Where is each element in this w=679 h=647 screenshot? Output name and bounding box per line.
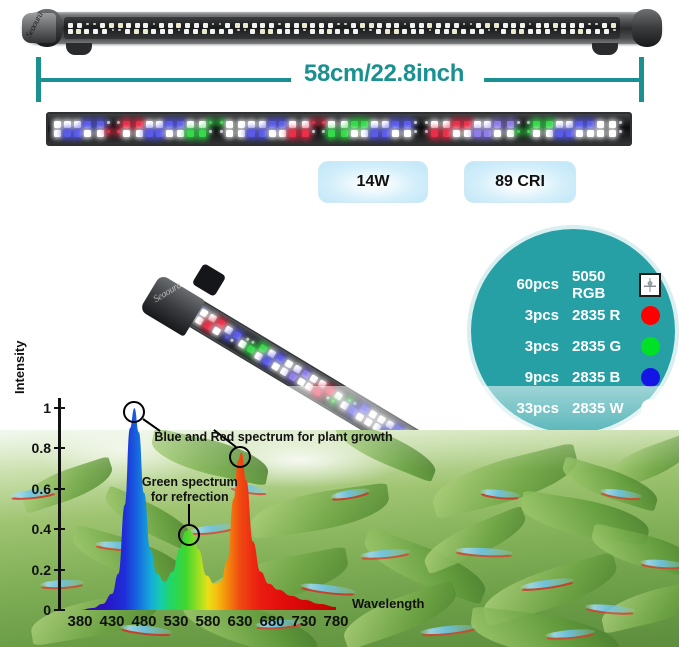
led-chip — [503, 23, 508, 28]
led-chip-group — [443, 23, 466, 34]
led-chip — [285, 29, 290, 34]
led-chip — [93, 23, 96, 26]
lit-led — [507, 130, 514, 137]
lit-led — [302, 130, 309, 137]
led-chip — [118, 29, 121, 32]
lit-led — [279, 130, 286, 137]
led-chip — [404, 23, 407, 26]
lit-led — [507, 121, 514, 128]
lit-led — [289, 121, 296, 128]
led-chip — [470, 29, 475, 34]
lit-led — [136, 130, 143, 137]
lit-led — [269, 130, 276, 137]
lit-led — [587, 121, 594, 128]
lit-led — [136, 121, 143, 128]
lit-led — [609, 121, 616, 128]
led-chip — [219, 29, 224, 34]
chart-y-tick — [54, 569, 65, 571]
lit-led — [533, 130, 540, 137]
lit-led — [576, 121, 583, 128]
led-chip — [385, 29, 390, 34]
led-chip — [225, 23, 230, 28]
lit-led — [404, 121, 411, 128]
lit-led-group — [544, 121, 565, 137]
lit-led — [146, 121, 153, 128]
lit-led-group — [52, 121, 73, 137]
lit-led-group — [278, 121, 299, 137]
angled-led — [238, 340, 248, 350]
angled-led — [292, 364, 302, 374]
led-chip-group — [268, 23, 291, 34]
led-chip — [310, 23, 315, 28]
led-chip — [210, 29, 215, 34]
lit-led — [238, 121, 245, 128]
lit-led — [443, 121, 450, 128]
spec-led-type: 2835 B — [559, 369, 639, 386]
led-chip — [260, 23, 265, 28]
lit-led — [453, 121, 460, 128]
led-chip — [260, 29, 265, 34]
lit-led — [576, 130, 583, 137]
lit-led — [371, 130, 378, 137]
lit-led-group — [134, 121, 155, 137]
lit-led — [341, 121, 348, 128]
lit-led-group — [93, 121, 114, 137]
spec-led-type: 2835 R — [559, 307, 639, 324]
badge-power: 14W — [318, 161, 428, 203]
angled-led — [288, 372, 298, 382]
lit-led — [414, 121, 417, 124]
led-chip — [501, 29, 506, 34]
angled-led — [254, 351, 264, 361]
led-chip — [402, 29, 407, 34]
led-chip — [335, 29, 340, 34]
product-led-bar-lit — [46, 112, 632, 146]
led-chip — [554, 29, 557, 32]
led-chip-group — [218, 23, 241, 34]
led-chip — [586, 29, 591, 34]
led-chip — [118, 23, 123, 28]
lit-led-group — [114, 121, 135, 137]
lit-led — [226, 130, 233, 137]
color-dot-g — [641, 337, 660, 356]
lit-led — [351, 121, 358, 128]
lit-led-group — [503, 121, 524, 137]
lit-led — [382, 130, 389, 137]
lit-led — [123, 121, 130, 128]
lit-led — [259, 130, 266, 137]
led-chip — [77, 23, 82, 28]
lit-led-group — [237, 121, 258, 137]
lit-led — [404, 130, 411, 137]
lit-led — [546, 121, 553, 128]
led-chip — [244, 29, 247, 32]
lit-led — [289, 130, 296, 137]
lit-led — [302, 121, 309, 128]
led-chip — [611, 23, 616, 28]
led-chip — [153, 23, 156, 26]
led-chip — [427, 23, 432, 28]
badge-power-label: 14W — [357, 173, 390, 191]
spec-row: 3pcs2835 G — [485, 331, 661, 362]
lit-led — [199, 121, 206, 128]
lit-led — [177, 121, 184, 128]
led-chip-group — [393, 23, 416, 34]
led-chip — [294, 29, 299, 34]
led-chip — [363, 29, 366, 32]
chart-x-tick-label: 480 — [131, 613, 156, 630]
lit-led — [156, 130, 163, 137]
led-chip — [369, 29, 372, 32]
lit-led — [199, 130, 206, 137]
lit-led — [609, 130, 616, 137]
led-chip — [337, 23, 340, 26]
led-chip — [212, 23, 215, 26]
lit-led-group — [442, 121, 463, 137]
led-chip — [351, 23, 356, 28]
lit-led-group — [401, 121, 422, 137]
led-chip — [269, 23, 274, 28]
led-chip — [488, 29, 491, 32]
brand-logo-cap: Seaoura — [22, 13, 56, 43]
led-chip — [536, 23, 541, 28]
led-chip — [68, 23, 73, 28]
lit-led — [464, 130, 471, 137]
led-chip — [109, 23, 114, 28]
lit-led — [74, 121, 81, 128]
led-chip — [294, 23, 299, 28]
lit-led — [248, 121, 255, 128]
chart-y-tick — [54, 528, 65, 530]
badge-cri: 89 CRI — [464, 161, 576, 203]
led-chip-group — [67, 23, 90, 34]
led-chip — [444, 29, 449, 34]
led-chip — [202, 29, 207, 34]
led-chip-group — [243, 23, 266, 34]
lit-led — [556, 121, 563, 128]
lit-led — [382, 121, 389, 128]
led-chip — [100, 23, 105, 28]
lit-led — [248, 130, 255, 137]
led-chip — [536, 29, 541, 34]
led-chip — [411, 29, 416, 34]
led-chip — [228, 29, 233, 34]
led-chip-group — [594, 23, 617, 34]
lit-led — [494, 121, 501, 128]
led-chip — [588, 23, 591, 26]
lit-led — [146, 130, 153, 137]
led-chip — [237, 29, 240, 32]
led-chip — [570, 29, 575, 34]
chart-y-tick — [54, 488, 65, 490]
led-chip — [184, 29, 189, 34]
lit-led — [166, 130, 173, 137]
led-chip — [545, 29, 550, 34]
lit-led — [187, 130, 194, 137]
led-chip — [143, 23, 148, 28]
led-chip — [353, 29, 358, 34]
led-chip — [319, 29, 324, 34]
led-chip — [285, 23, 290, 28]
led-chip — [102, 29, 107, 34]
product-led-bar-unlit: Seaoura — [22, 4, 662, 52]
led-chip — [168, 29, 173, 34]
led-chip-group — [117, 23, 140, 34]
led-chip — [344, 23, 347, 26]
lit-led — [361, 130, 368, 137]
spec-led-type: 2835 G — [559, 338, 639, 355]
led-chip — [519, 29, 524, 34]
lit-led — [351, 130, 358, 137]
led-chip — [419, 23, 424, 28]
led-chip — [520, 23, 525, 28]
chart-y-axis-title: Intensity — [12, 341, 27, 394]
annotation-label-blue-red: Blue and Red spectrum for plant growth — [154, 430, 392, 444]
led-chip-group — [469, 23, 492, 34]
led-chip — [268, 29, 273, 34]
led-chip — [394, 29, 399, 34]
lit-led — [414, 130, 417, 133]
chart-y-tick-label: 0.2 — [32, 562, 51, 578]
lit-led-group — [462, 121, 483, 137]
angled-led — [208, 313, 218, 323]
lit-led-group — [421, 121, 442, 137]
led-chip — [394, 23, 399, 28]
led-chip — [151, 29, 156, 34]
led-chip — [369, 23, 374, 28]
spec-quantity: 9pcs — [485, 369, 559, 386]
lit-led-group — [524, 121, 545, 137]
lit-led — [361, 121, 368, 128]
lit-led-group — [216, 121, 237, 137]
lit-led — [443, 130, 450, 137]
dimension-label: 58cm/22.8inch — [294, 60, 474, 88]
chart-x-tick-label: 530 — [163, 613, 188, 630]
lit-led — [117, 130, 120, 133]
lit-led-group — [196, 121, 217, 137]
lit-led — [279, 121, 286, 128]
lit-led-group — [360, 121, 381, 137]
lit-led — [322, 121, 325, 124]
lit-led-group — [339, 121, 360, 137]
lit-led — [238, 130, 245, 137]
lit-led-group — [73, 121, 94, 137]
led-chip — [360, 23, 365, 28]
lit-led — [517, 121, 520, 124]
led-chip-group — [569, 23, 592, 34]
lit-led — [209, 130, 212, 133]
lit-led — [556, 130, 563, 137]
chart-x-tick-label: 630 — [227, 613, 252, 630]
led-chip — [570, 23, 575, 28]
led-chip — [76, 29, 81, 34]
led-chip — [529, 23, 532, 26]
led-chip — [194, 23, 199, 28]
led-chip — [302, 23, 307, 28]
chart-y-tick — [54, 609, 65, 611]
led-chip — [613, 29, 616, 32]
led-chip — [376, 29, 381, 34]
lit-led — [84, 121, 91, 128]
lit-led — [474, 130, 481, 137]
led-chip — [452, 29, 457, 34]
lit-led — [392, 130, 399, 137]
led-chip — [386, 23, 391, 28]
lit-led — [597, 130, 604, 137]
annotation-label-green: Green spectrum for refrection — [135, 475, 245, 504]
led-chip — [553, 23, 558, 28]
led-chip — [461, 29, 466, 34]
led-chip — [328, 23, 333, 28]
lit-led — [566, 121, 573, 128]
led-chip-group — [318, 23, 341, 34]
led-chip — [602, 23, 607, 28]
led-chip-group — [494, 23, 517, 34]
lit-led — [107, 121, 110, 124]
lit-led-group — [319, 121, 340, 137]
chart-x-axis-title: Wavelength — [352, 596, 424, 611]
angled-led — [271, 362, 281, 372]
led-chip — [595, 23, 598, 26]
color-dot-r — [641, 306, 660, 325]
led-chip — [159, 23, 164, 28]
spec-quantity: 3pcs — [485, 338, 559, 355]
lit-led — [64, 130, 71, 137]
lit-led — [97, 121, 104, 128]
led-chip — [219, 23, 222, 26]
angled-led — [246, 337, 250, 341]
annotation-leader-green — [188, 504, 190, 525]
lit-led — [187, 121, 194, 128]
dimension-indicator: 58cm/22.8inch — [36, 57, 644, 102]
lit-led — [220, 121, 223, 124]
angled-led — [258, 344, 268, 354]
lit-led-group — [565, 121, 586, 137]
lit-led — [474, 121, 481, 128]
lit-led-group — [175, 121, 196, 137]
lit-led-group — [606, 121, 627, 137]
led-chip — [579, 23, 584, 28]
annotation-ring-green-peak — [178, 524, 200, 546]
lit-led — [64, 121, 71, 128]
led-chip — [178, 29, 181, 32]
lit-led-group — [585, 121, 606, 137]
led-bar-endcap-right — [632, 9, 662, 47]
angled-led — [230, 338, 234, 342]
led-chip — [528, 29, 533, 34]
annotation-ring-red-peak — [229, 446, 251, 468]
led-chip — [595, 29, 600, 34]
lit-led — [425, 130, 428, 133]
lit-led — [619, 130, 622, 133]
led-chip — [277, 29, 282, 34]
chart-y-tick-label: 0.4 — [32, 521, 51, 537]
led-chip — [125, 29, 130, 34]
led-chip — [419, 29, 424, 34]
lit-led — [392, 121, 399, 128]
led-chip — [86, 23, 89, 26]
led-chip — [112, 29, 115, 32]
led-chip — [235, 23, 240, 28]
lit-led — [226, 121, 233, 128]
spec-row: 60pcs5050 RGB — [485, 269, 661, 300]
led-chip — [463, 23, 466, 26]
lit-led — [166, 121, 173, 128]
chart-y-tick-label: 0.8 — [32, 440, 51, 456]
lit-led — [322, 130, 325, 133]
led-chip — [445, 23, 450, 28]
badge-cri-label: 89 CRI — [495, 173, 545, 191]
lit-led — [209, 121, 212, 124]
spectrum-chart: Intensity 00.20.40.60.81 380430480530580… — [0, 386, 679, 647]
lit-led — [597, 121, 604, 128]
angled-led — [224, 335, 228, 339]
brand-logo-script: Seaoura — [23, 11, 55, 44]
led-chip-group — [92, 23, 115, 34]
lit-led — [220, 130, 223, 133]
chart-x-tick-label: 730 — [291, 613, 316, 630]
lit-led — [619, 121, 622, 124]
lit-led-group — [257, 121, 278, 137]
lit-led — [259, 121, 266, 128]
led-chip-group — [368, 23, 391, 34]
led-chip — [93, 29, 98, 34]
lit-led — [484, 130, 491, 137]
lit-led — [587, 130, 594, 137]
lit-led — [54, 121, 61, 128]
chart-y-tick-label: 1 — [43, 400, 51, 416]
lit-led — [566, 130, 573, 137]
spec-swatch — [639, 306, 661, 325]
lit-led — [328, 121, 335, 128]
led-chip-group — [544, 23, 567, 34]
lit-led — [464, 121, 471, 128]
led-chip — [436, 23, 441, 28]
angled-led — [203, 321, 213, 331]
led-chip — [185, 23, 190, 28]
chart-y-tick — [54, 407, 65, 409]
lit-led-group — [380, 121, 401, 137]
chart-x-tick-label: 580 — [195, 613, 220, 630]
lit-led — [107, 130, 110, 133]
led-chip — [435, 29, 440, 34]
spec-swatch — [639, 337, 661, 356]
led-chip — [479, 29, 484, 34]
led-chip — [135, 23, 140, 28]
spec-swatch — [639, 368, 661, 387]
led-chip — [176, 23, 181, 28]
lit-led — [494, 130, 501, 137]
lit-led-group — [155, 121, 176, 137]
led-chip — [511, 29, 516, 34]
lit-led — [312, 121, 315, 124]
chart-x-tick-label: 780 — [323, 613, 348, 630]
led-chip — [476, 23, 481, 28]
lit-led — [527, 130, 530, 133]
chart-y-tick-label: 0.6 — [32, 481, 51, 497]
led-chip — [160, 29, 165, 34]
led-chip — [494, 23, 499, 28]
dimension-line-right — [484, 78, 639, 82]
led-chip — [511, 23, 516, 28]
lit-led — [269, 121, 276, 128]
chart-x-axis-labels: 380430480530580630680730780 — [58, 613, 408, 635]
lit-led — [484, 121, 491, 128]
led-chip — [410, 23, 415, 28]
lit-led — [533, 121, 540, 128]
led-chip-group — [167, 23, 190, 34]
lit-led — [425, 121, 428, 124]
